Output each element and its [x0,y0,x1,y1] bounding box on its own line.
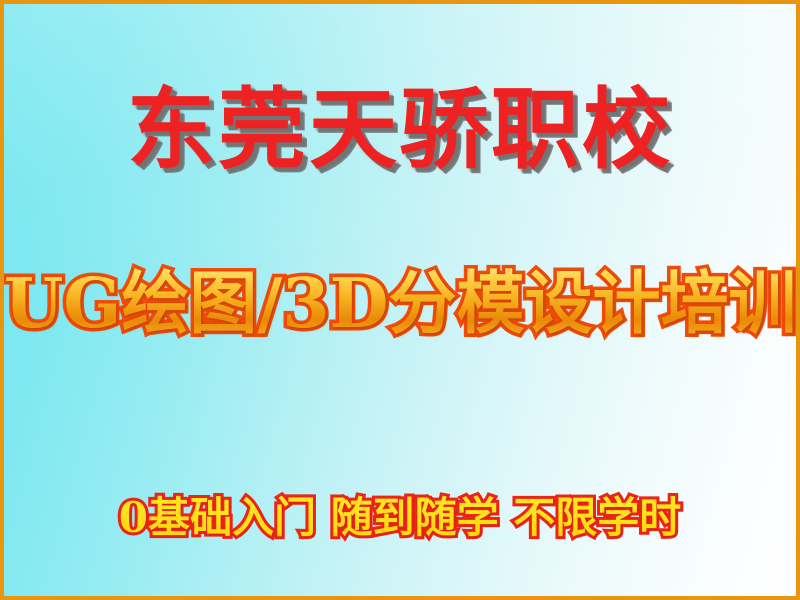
promo-poster: 东莞天骄职校 UG绘图/3D分模设计培训 UG绘图/3D分模设计培训 0基础入门… [0,0,800,600]
selling-points-tagline: 0基础入门 随到随学 不限学时 0基础入门 随到随学 不限学时 [119,492,681,545]
selling-points-stroke-layer: 0基础入门 随到随学 不限学时 [119,492,681,545]
school-name-line: 东莞天骄职校 [4,82,796,177]
school-name-title: 东莞天骄职校 [127,82,673,177]
course-name-stroke-layer: UG绘图/3D分模设计培训 [4,262,797,347]
selling-points-line: 0基础入门 随到随学 不限学时 0基础入门 随到随学 不限学时 [4,492,796,545]
course-name-subtitle: UG绘图/3D分模设计培训 UG绘图/3D分模设计培训 [4,262,797,347]
course-name-line: UG绘图/3D分模设计培训 UG绘图/3D分模设计培训 [4,262,796,347]
